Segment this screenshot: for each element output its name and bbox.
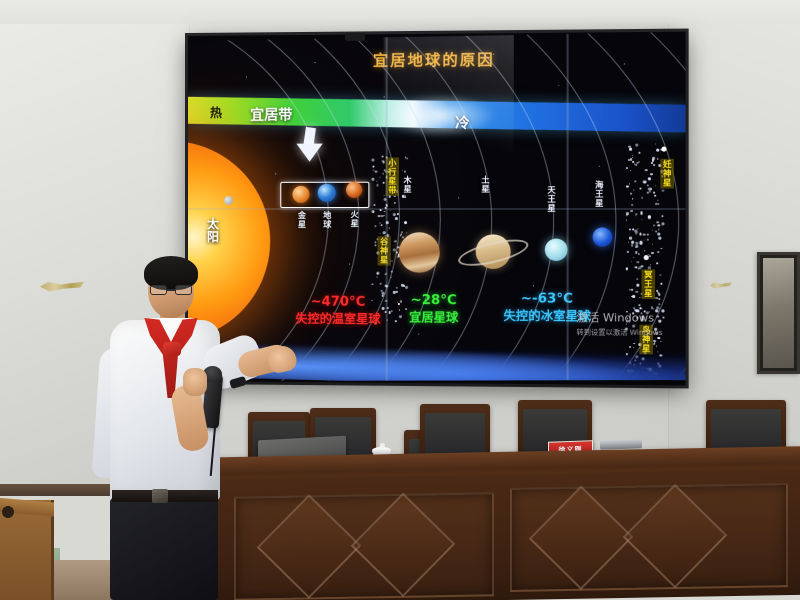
presenter-glasses-icon	[150, 285, 192, 295]
planet-label-neptune: 海王星	[594, 180, 605, 208]
wall-picture-image	[763, 258, 794, 368]
glasses-lens-right	[175, 285, 192, 295]
planet-label-venus: 金星	[296, 211, 307, 229]
annotation-venus-caption: 失控的温室星球	[272, 309, 404, 327]
presenter-scarf-knot	[163, 342, 181, 356]
watermark-line-2: 转到设置以激活 Windows	[576, 327, 662, 338]
windows-activation-watermark: 激活 Windows 转到设置以激活 Windows	[576, 309, 662, 338]
belt-label-pluto: 冥王星	[642, 269, 656, 299]
teacup-knob	[380, 443, 385, 448]
zone-label-hot: 热	[210, 104, 222, 121]
planet-uranus	[545, 239, 568, 261]
video-wall-bezel	[188, 208, 686, 210]
glasses-bridge	[167, 289, 175, 291]
planet-label-saturn: 土星	[480, 175, 491, 193]
planet-venus	[292, 186, 309, 203]
desk-front-panel	[214, 469, 800, 600]
planet-mercury	[224, 196, 233, 205]
teacup-lid	[372, 447, 391, 454]
glasses-lens-left	[150, 285, 167, 295]
annotation-earth-caption: 宜居星球	[386, 308, 482, 326]
video-wall-screen: 宜居地球的原因 热 宜居带 冷 太阳	[188, 32, 686, 386]
pointer-arrow-icon	[296, 144, 322, 162]
dwarf-planet-pluto	[644, 255, 649, 260]
presenter-belt-buckle	[152, 489, 168, 503]
annotation-venus-temp: ~470°C	[272, 294, 404, 310]
planet-label-jupiter: 木星	[402, 176, 413, 194]
planet-neptune	[593, 227, 613, 246]
zone-label-habitable: 宜居带	[250, 104, 292, 124]
planet-earth	[318, 184, 336, 202]
belt-label-ceres: 谷神星	[378, 236, 391, 265]
sun-label: 太阳	[206, 218, 220, 243]
video-wall-display[interactable]: 宜居地球的原因 热 宜居带 冷 太阳	[188, 32, 686, 386]
presenter-trousers	[110, 498, 218, 600]
annotation-earth-temp: ~28°C	[386, 293, 482, 309]
annotation-mars-temp: ~-63°C	[480, 291, 615, 307]
lectern-knob-icon	[2, 506, 14, 518]
planet-mars	[346, 182, 362, 198]
dwarf-planet-haumea	[661, 147, 666, 152]
desk-microphone[interactable]	[600, 439, 642, 449]
planet-jupiter	[399, 232, 440, 273]
belt-label-haumea: 妊神星	[660, 159, 674, 189]
lectern[interactable]	[0, 500, 54, 600]
planet-label-mars: 火星	[349, 210, 360, 228]
lecture-hall-scene: 宜居地球的原因 热 宜居带 冷 太阳	[0, 0, 800, 600]
planet-label-earth: 地球	[322, 211, 333, 229]
annotation-earth: ~28°C 宜居星球	[386, 293, 482, 326]
presenter-left-hand	[183, 368, 207, 396]
zone-label-cold: 冷	[455, 113, 469, 133]
watermark-line-1: 激活 Windows	[576, 309, 662, 326]
wall-picture-frame	[757, 252, 800, 374]
annotation-venus: ~470°C 失控的温室星球	[272, 294, 404, 327]
wall-camera-icon	[345, 33, 365, 41]
